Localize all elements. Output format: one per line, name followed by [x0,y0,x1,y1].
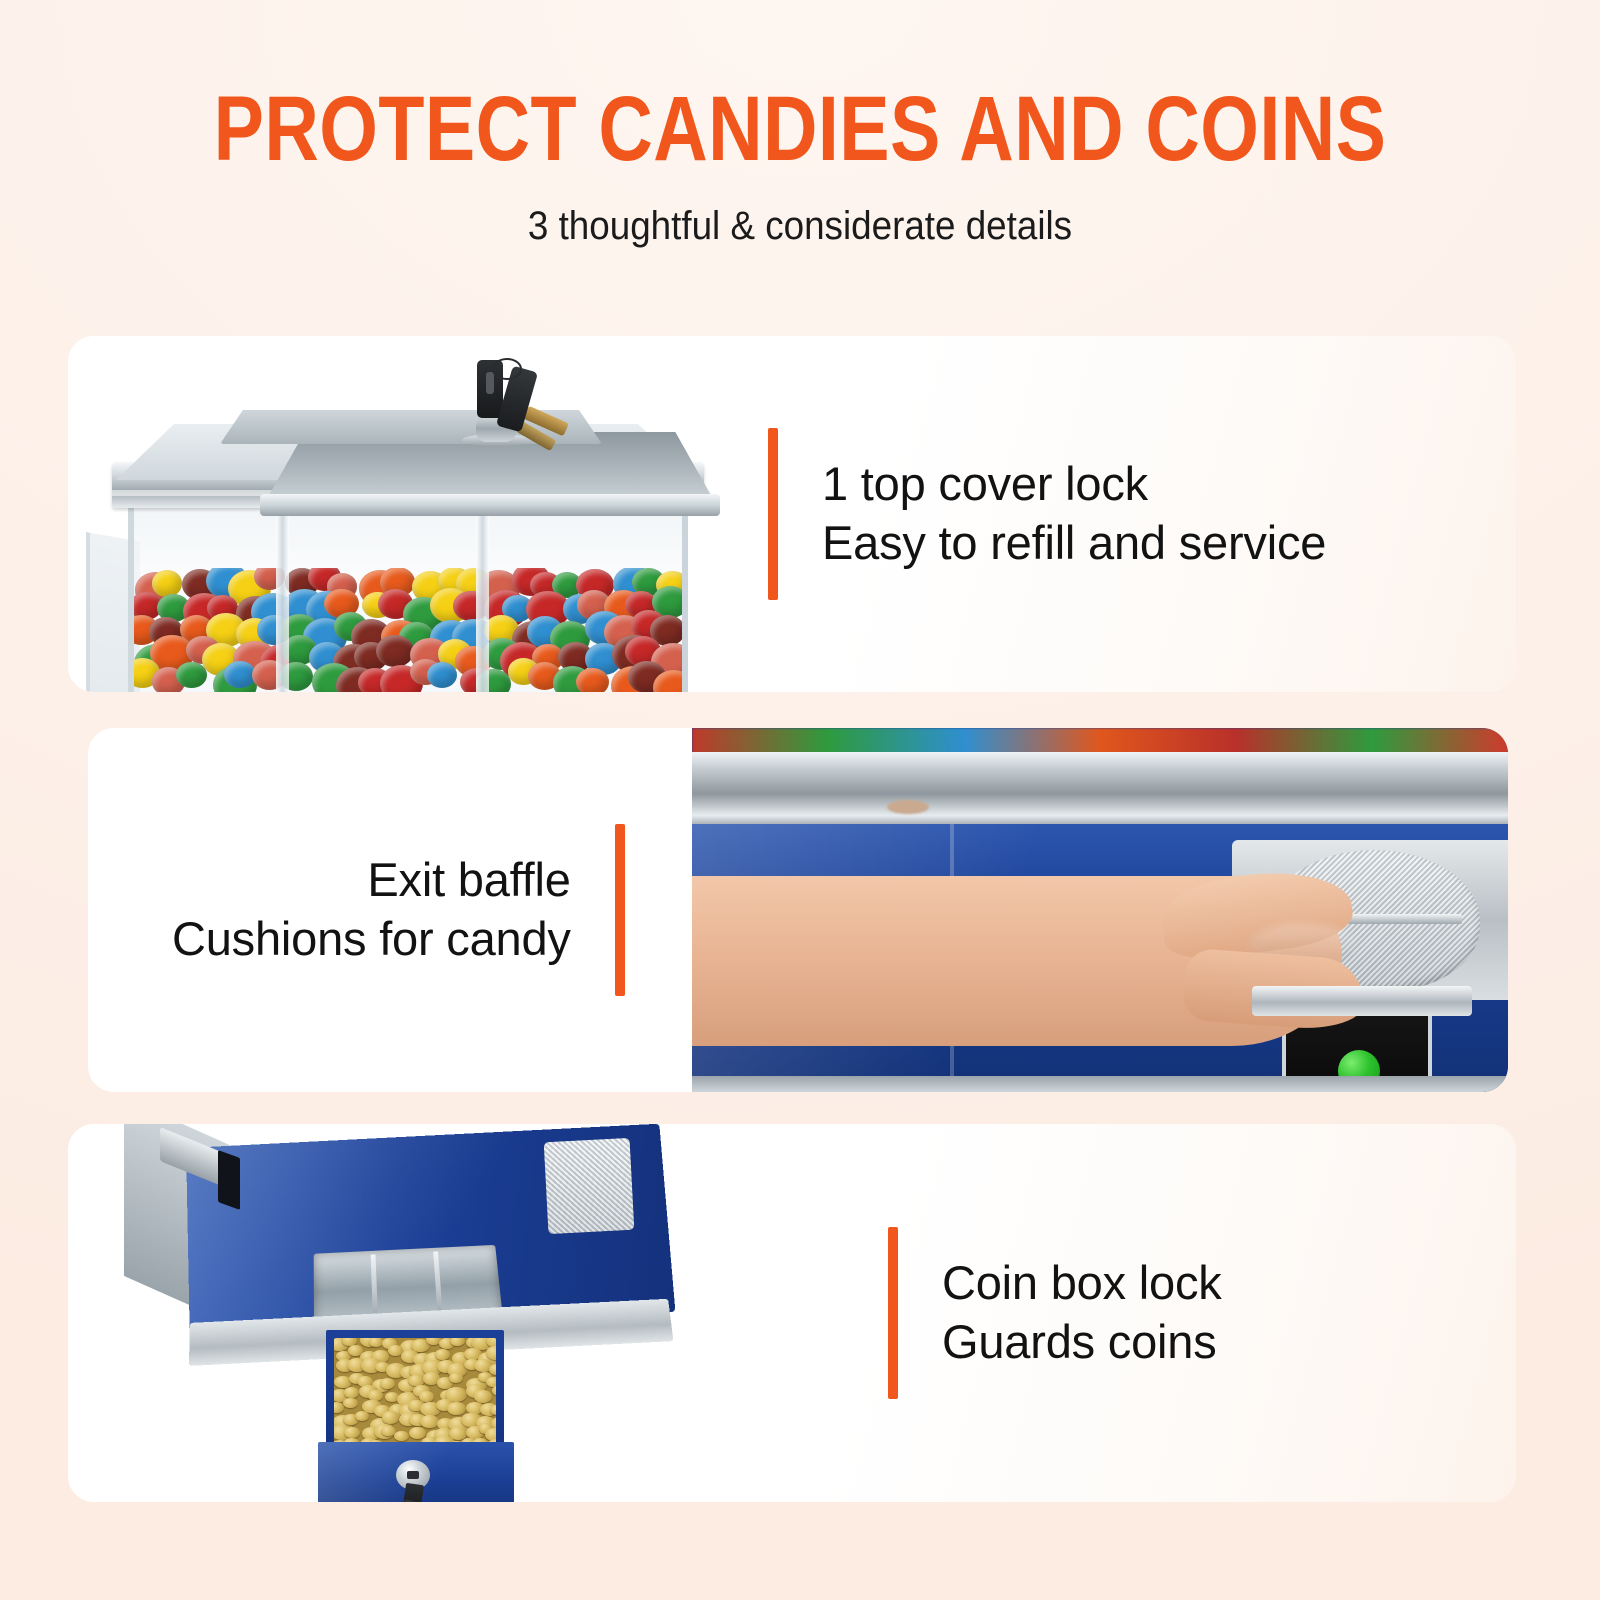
coin [382,1411,400,1423]
accent-bar [615,824,625,996]
feature-text-coin-box-lock: Coin box lock Guards coins [888,1227,1222,1399]
coin [344,1387,360,1398]
silver-latch-pad [544,1138,635,1234]
feature-heading: Coin box lock [942,1254,1222,1313]
feature-subheading: Guards coins [942,1313,1222,1372]
product-photo-coin-box-lock [68,1124,768,1502]
coin [344,1427,361,1439]
candy-piece [576,668,609,692]
feature-heading: 1 top cover lock [822,455,1326,514]
infographic-page: PROTECT CANDIES AND COINS 3 thoughtful &… [0,0,1600,1600]
coin [409,1427,426,1439]
lid-rim [260,494,720,516]
coin [355,1411,369,1421]
coin [474,1390,492,1403]
page-title: PROTECT CANDIES AND COINS [144,84,1456,174]
accent-bar [888,1227,898,1399]
coin [450,1338,465,1346]
chrome-header-bar [692,752,1508,824]
coin [447,1402,466,1415]
coin [435,1349,450,1360]
exit-baffle-flap [1252,986,1472,1016]
header: PROTECT CANDIES AND COINS 3 thoughtful &… [0,0,1600,249]
candy-piece [376,635,414,667]
coin [369,1338,383,1347]
feature-text-exit-baffle: Exit baffle Cushions for candy [172,824,625,996]
coin-pile [334,1338,496,1450]
coin [492,1385,496,1396]
feature-subheading: Cushions for candy [172,910,571,969]
key-ring-icon [492,358,522,380]
candy-piece [152,570,183,597]
feature-heading: Exit baffle [172,851,571,910]
product-photo-top-cover-lock [68,336,768,692]
coin [449,1373,464,1383]
accent-bar [768,428,778,600]
coin [490,1405,496,1415]
feature-subheading: Easy to refill and service [822,514,1326,573]
dark-clip [218,1150,240,1210]
candy-piece [176,662,207,688]
candy-row [692,728,1508,754]
page-subtitle: 3 thoughtful & considerate details [64,204,1536,249]
feature-text-top-cover-lock: 1 top cover lock Easy to refill and serv… [768,428,1326,600]
coin [343,1398,358,1409]
coin [394,1431,409,1441]
candy-piece [427,662,457,688]
feature-card-exit-baffle: Exit baffle Cushions for candy [88,728,1508,1092]
hopper-divider [276,500,289,692]
coin [380,1378,395,1389]
feature-card-coin-box-lock: Coin box lock Guards coins [68,1124,1516,1502]
hopper-divider [476,500,489,692]
candy-fill [134,568,682,692]
machine-base [692,1076,1508,1092]
product-photo-exit-baffle [692,728,1508,1092]
feature-card-top-cover-lock: 1 top cover lock Easy to refill and serv… [68,336,1516,692]
